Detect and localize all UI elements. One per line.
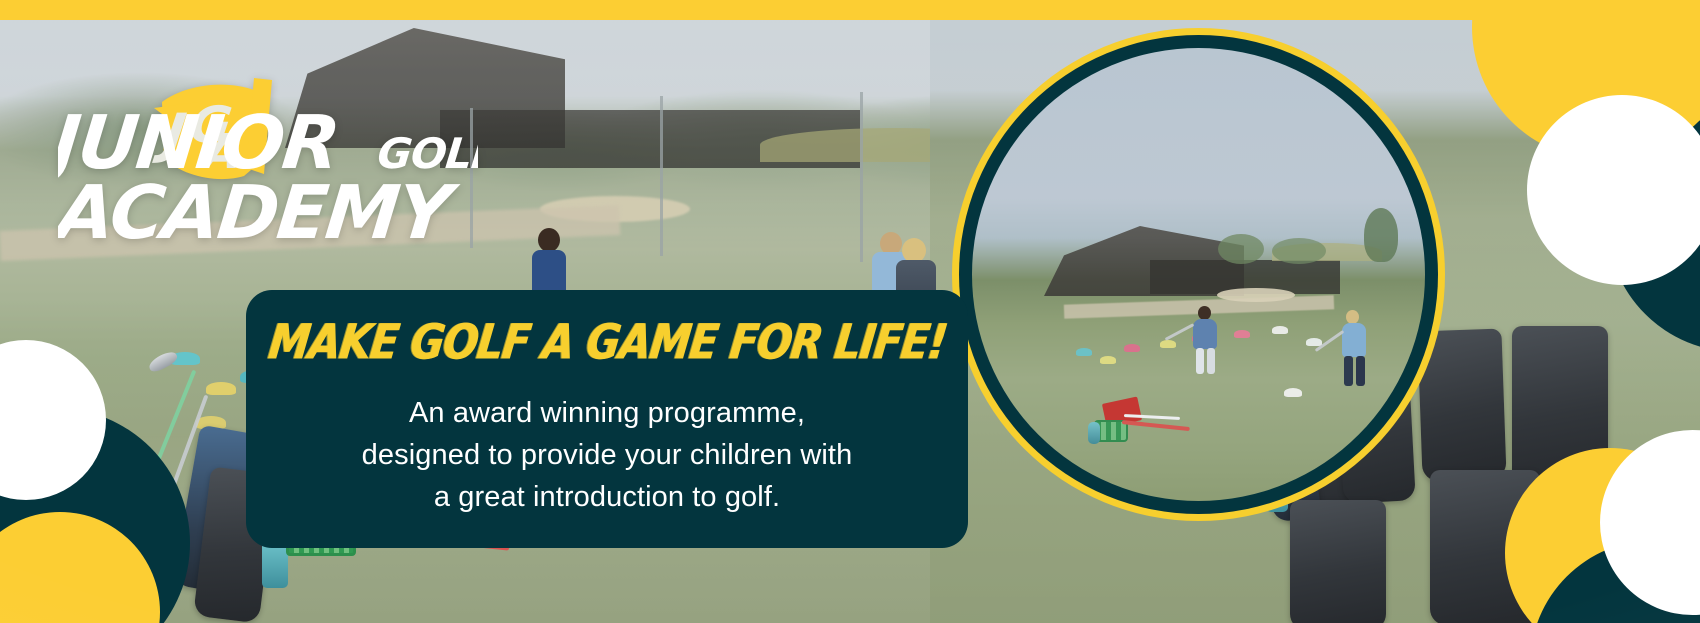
training-cone (1284, 388, 1302, 397)
child-head (1346, 310, 1359, 324)
logo-word-academy: ACADEMY (58, 170, 463, 251)
child-body (1193, 319, 1217, 349)
training-cone (1124, 344, 1140, 352)
tree (1272, 238, 1326, 264)
message-card: MAKE GOLF A GAME FOR LIFE! An award winn… (246, 290, 968, 548)
circle-photo (952, 28, 1445, 521)
card-subcopy: An award winning programme, designed to … (362, 393, 853, 518)
sand-bunker (1217, 288, 1295, 302)
child-leg (1196, 348, 1204, 374)
top-accent-bar (0, 0, 1700, 20)
promo-banner: J G A JUNIOR GOLF ACADEMY MAKE GOLF A GA… (0, 0, 1700, 623)
training-cone (206, 382, 236, 395)
training-stick (1122, 420, 1190, 431)
card-headline: MAKE GOLF A GAME FOR LIFE! (266, 318, 949, 366)
child-leg (1356, 356, 1365, 386)
child-leg (1207, 348, 1215, 374)
tree (1364, 208, 1398, 262)
golf-bag (1396, 420, 1425, 492)
subcopy-line-3: a great introduction to golf. (362, 477, 853, 519)
circle-photo-image (972, 48, 1425, 501)
net-post (660, 96, 663, 256)
child-body (532, 250, 566, 294)
training-cone (1100, 356, 1116, 364)
training-cone (1234, 330, 1250, 338)
golf-bag (1372, 434, 1400, 498)
training-cone (1272, 326, 1288, 334)
tree (1218, 234, 1264, 264)
training-cone (1076, 348, 1092, 356)
golf-bag (1424, 398, 1425, 488)
child-leg (1344, 356, 1353, 386)
junior-golf-academy-logo[interactable]: J G A JUNIOR GOLF ACADEMY (58, 56, 478, 251)
child-head (538, 228, 560, 252)
child-body (1342, 323, 1366, 357)
subcopy-line-1: An award winning programme, (362, 393, 853, 435)
training-cone (1160, 340, 1176, 348)
golf-club (1165, 323, 1195, 341)
child-head (1198, 306, 1211, 320)
net-post (860, 92, 863, 262)
water-bottle (1088, 422, 1100, 444)
subcopy-line-2: designed to provide your children with (362, 435, 853, 477)
training-cone (1402, 380, 1420, 389)
